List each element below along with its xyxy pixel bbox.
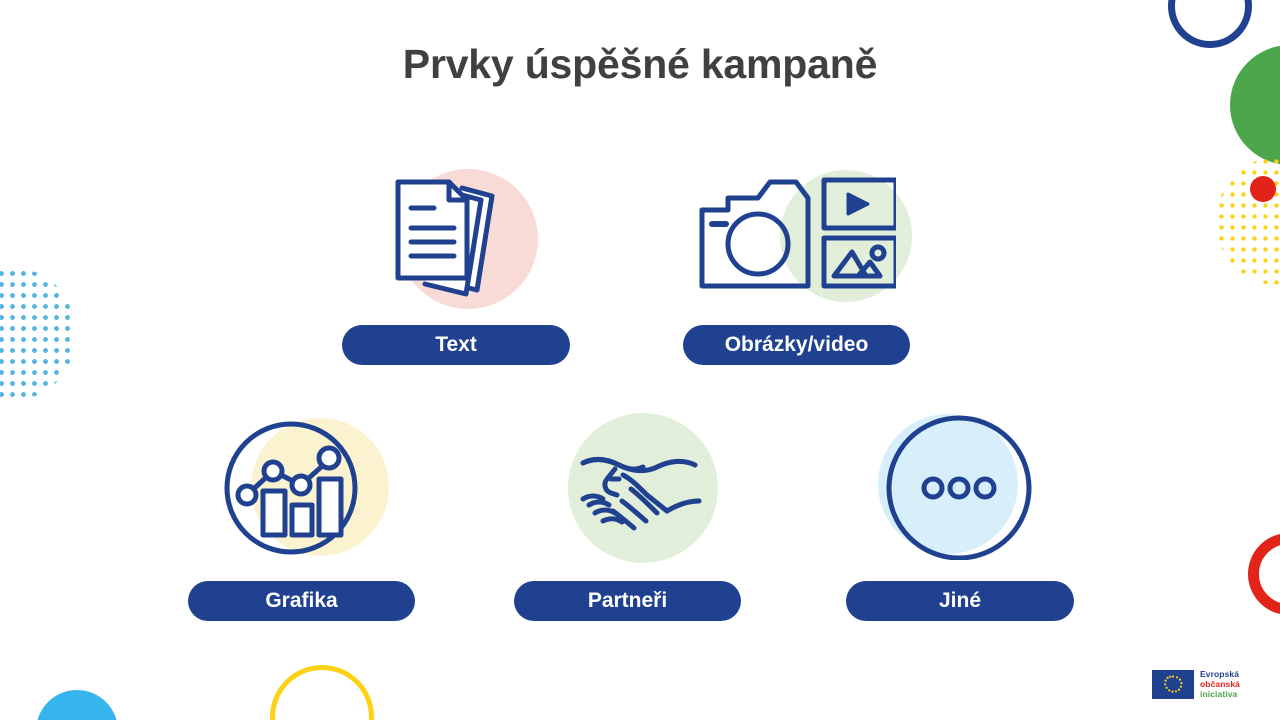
eu-logo-text: Evropská občanská iniciativa [1200,669,1240,699]
label-other-caption: Jiné [939,589,981,613]
cyan-circle-decoration [36,690,118,720]
label-images-video[interactable]: Obrázky/video [683,325,910,365]
eu-logo-line1: Evropská [1200,669,1240,679]
eu-logo: Evropská občanská iniciativa [1152,669,1240,699]
yellow-dots-decoration [1216,156,1280,286]
label-text-caption: Text [435,333,477,357]
eu-logo-line3: iniciativa [1200,689,1240,699]
blue-dots-decoration [0,268,76,400]
page-title: Prvky úspěšné kampaně [0,41,1280,88]
label-partners-caption: Partneři [588,589,667,613]
documents-icon-wrap [356,160,556,310]
ellipsis-circle-icon-wrap [860,410,1060,560]
camera-media-icon [696,168,896,318]
eu-stars-icon [1152,670,1194,699]
handshake-icon-wrap [527,413,727,563]
label-partners[interactable]: Partneři [514,581,741,621]
chart-circle-icon-wrap [201,413,401,563]
documents-icon [356,160,556,310]
red-ring-decoration [1248,533,1280,615]
handshake-icon [527,413,727,563]
label-other[interactable]: Jiné [846,581,1074,621]
camera-media-icon-wrap [696,168,896,318]
ellipsis-circle-icon [860,410,1060,560]
label-graphics[interactable]: Grafika [188,581,415,621]
label-graphics-caption: Grafika [265,589,337,613]
eu-logo-line2: občanská [1200,679,1240,689]
chart-circle-icon [201,413,401,563]
yellow-ring-decoration [270,665,374,720]
label-images-video-caption: Obrázky/video [725,333,869,357]
label-text[interactable]: Text [342,325,570,365]
red-dot-decoration [1250,176,1276,202]
slide-canvas: Prvky úspěšné kampaně Text [0,0,1280,720]
eu-flag-icon [1152,670,1194,699]
